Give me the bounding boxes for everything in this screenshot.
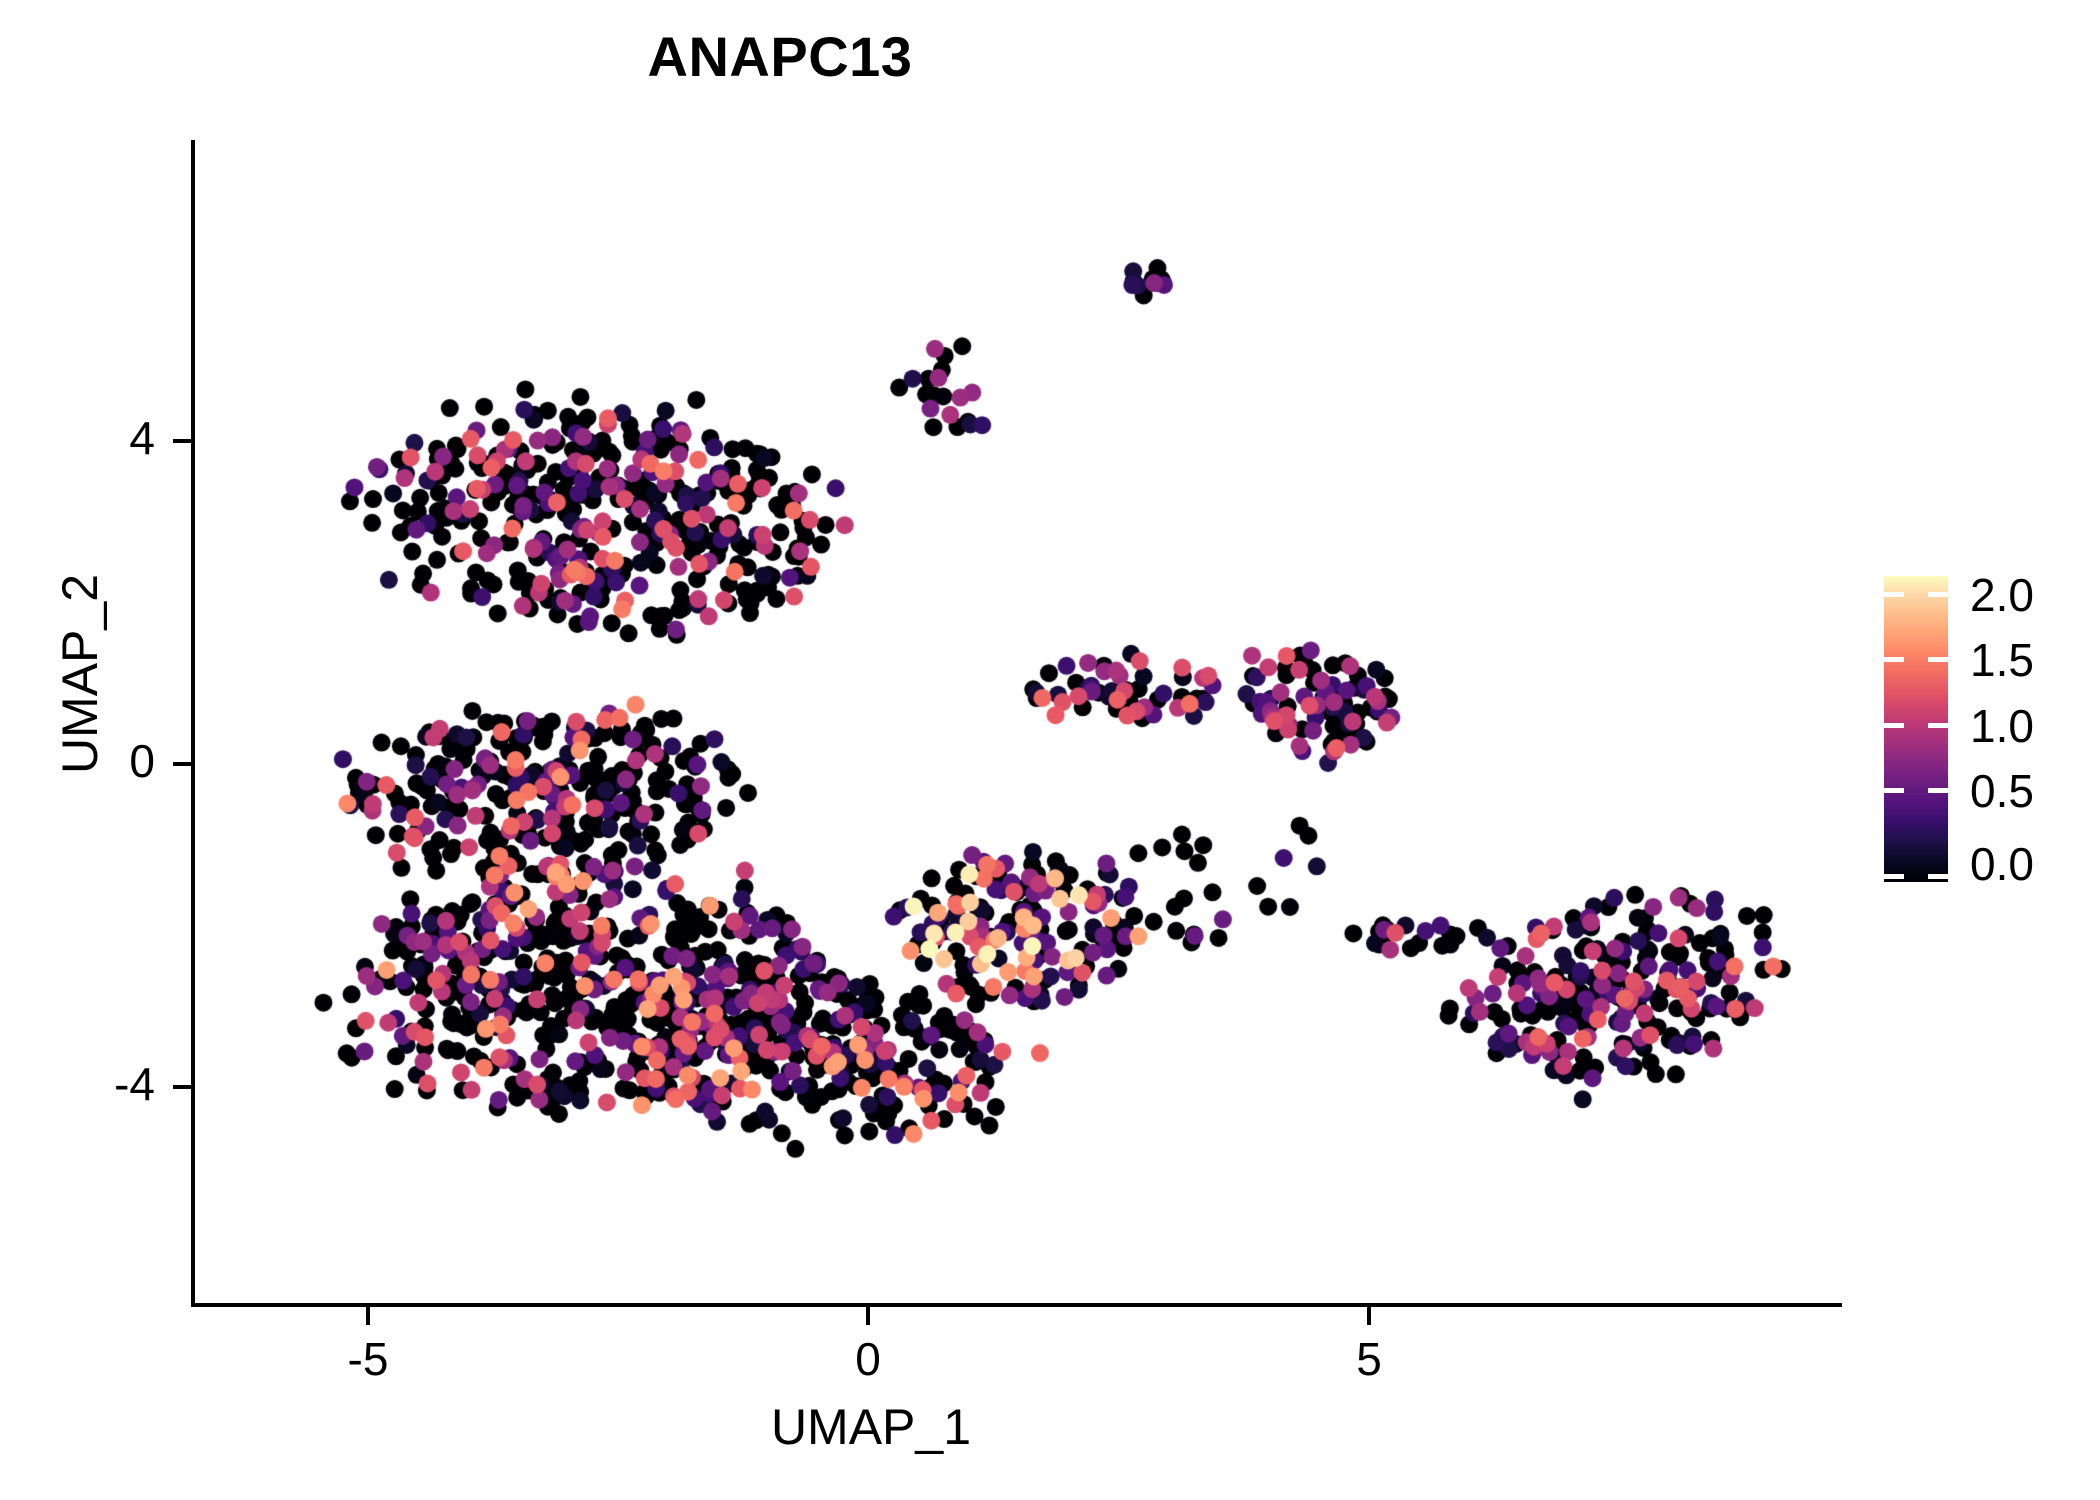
colorbar-label-1.0: 1.0 xyxy=(1970,699,2034,753)
x-tick-label-5: 5 xyxy=(1356,1332,1382,1386)
colorbar-label-0.0: 0.0 xyxy=(1970,837,2034,891)
y-tick-label-4: 4 xyxy=(129,411,155,465)
colorbar-label-1.5: 1.5 xyxy=(1970,633,2034,687)
x-axis-line xyxy=(191,1303,1842,1307)
colorbar-tick-1.0 xyxy=(1884,723,1904,728)
colorbar-tick-0.5 xyxy=(1884,788,1904,793)
x-tick-mark-5 xyxy=(1367,1307,1371,1325)
y-tick-mark-0 xyxy=(173,762,191,766)
x-tick-mark-0 xyxy=(866,1307,870,1325)
colorbar-tick-0.0 xyxy=(1884,874,1904,879)
colorbar-gradient xyxy=(1884,576,1948,882)
colorbar-tick-1.5-right xyxy=(1928,657,1948,662)
colorbar-tick-2.0-right xyxy=(1928,592,1948,597)
x-tick-label-neg5: -5 xyxy=(348,1332,389,1386)
colorbar-tick-2.0 xyxy=(1884,592,1904,597)
y-axis-title: UMAP_2 xyxy=(51,334,109,1014)
colorbar-label-0.5: 0.5 xyxy=(1970,764,2034,818)
y-tick-label-0: 0 xyxy=(129,734,155,788)
colorbar-tick-0.0-right xyxy=(1928,874,1948,879)
colorbar-tick-1.0-right xyxy=(1928,723,1948,728)
x-axis-title: UMAP_1 xyxy=(191,1398,1551,1456)
y-tick-mark-neg4 xyxy=(173,1085,191,1089)
x-tick-label-0: 0 xyxy=(855,1332,881,1386)
y-tick-mark-4 xyxy=(173,439,191,443)
colorbar-tick-0.5-right xyxy=(1928,788,1948,793)
x-tick-mark-neg5 xyxy=(366,1307,370,1325)
umap-feature-plot: ANAPC13 4 0 -4 -5 0 5 UMAP_1 UMAP_2 2.0 … xyxy=(0,0,2100,1500)
colorbar-label-2.0: 2.0 xyxy=(1970,568,2034,622)
y-axis-line xyxy=(191,140,195,1305)
colorbar-tick-1.5 xyxy=(1884,657,1904,662)
y-tick-label-neg4: -4 xyxy=(114,1057,155,1111)
scatter-plot-canvas xyxy=(0,0,2100,1500)
